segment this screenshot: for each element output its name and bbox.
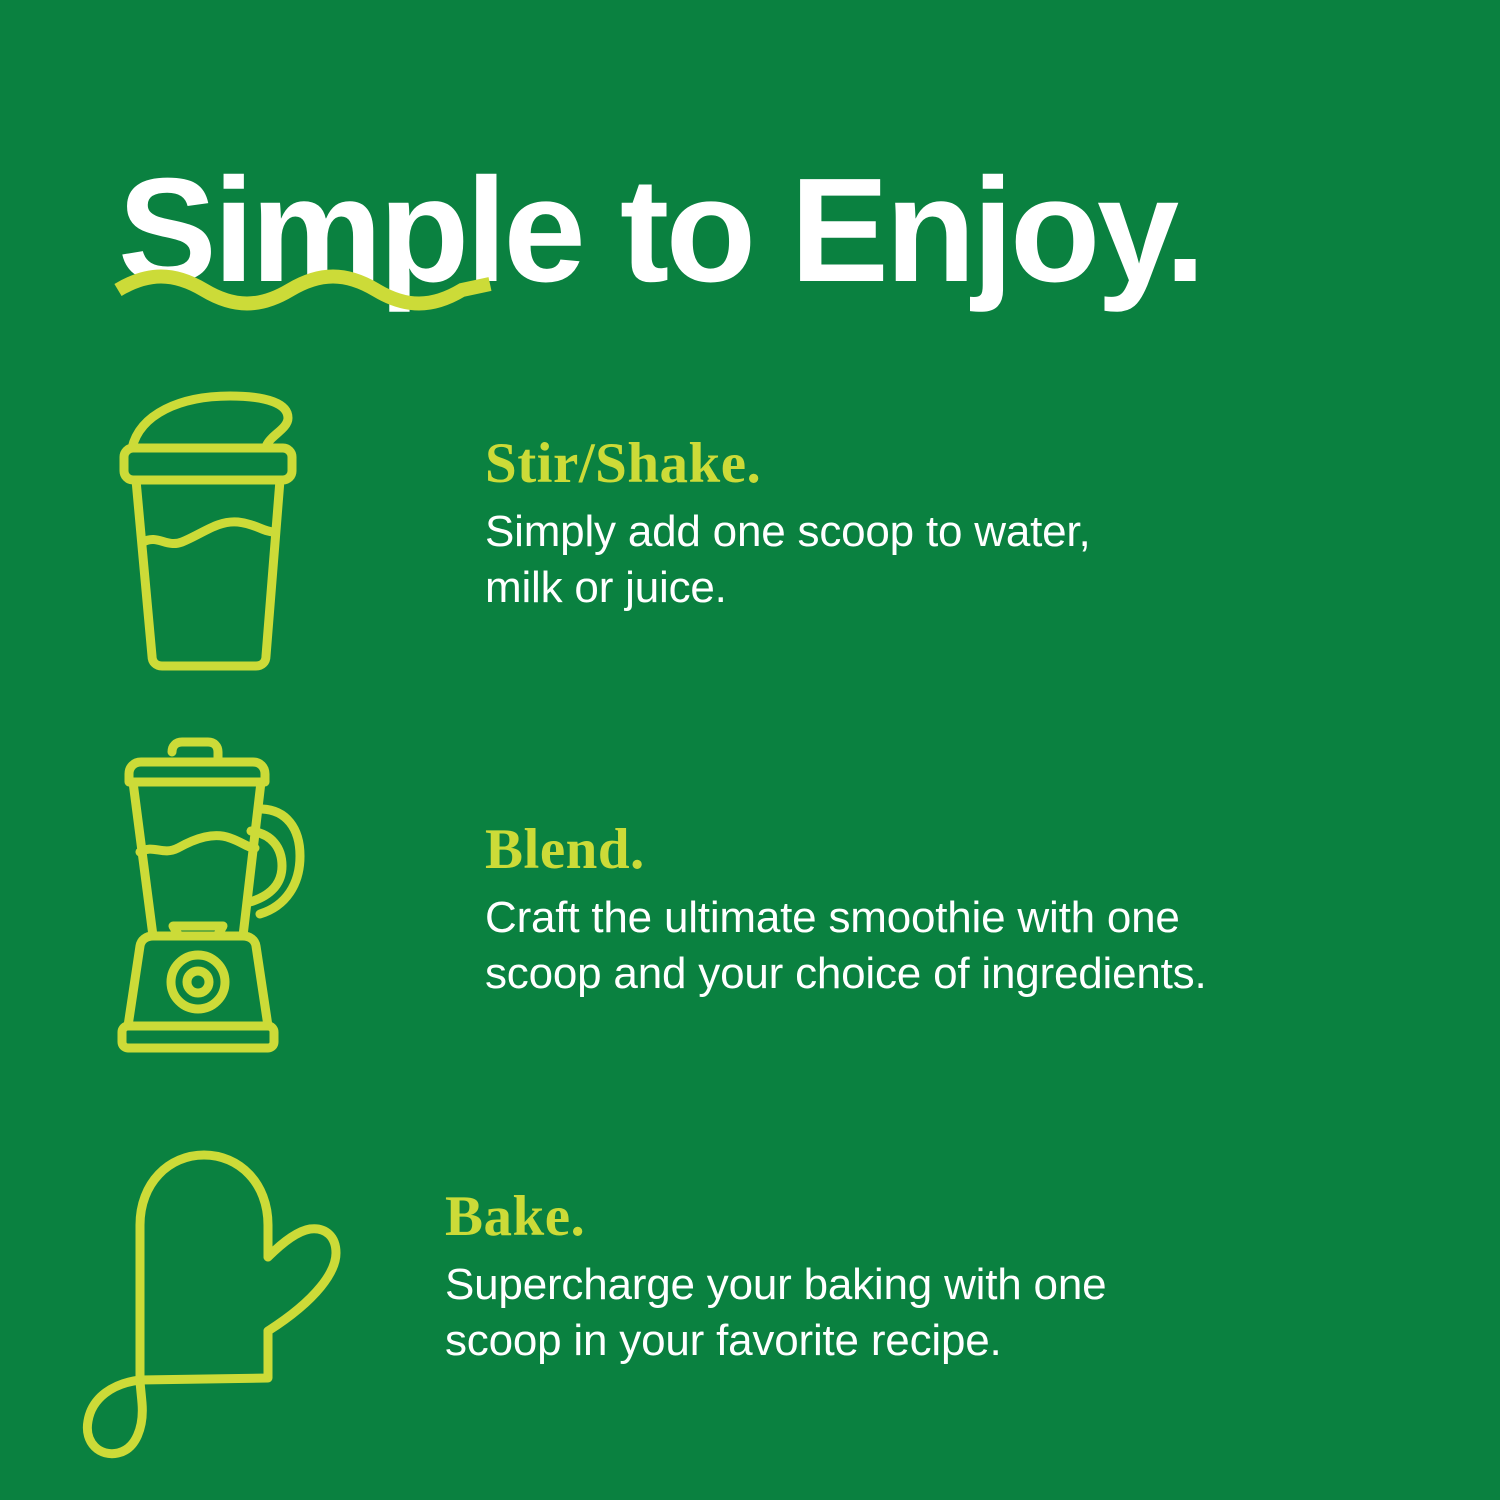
wavy-line-divider <box>112 262 512 332</box>
step-desc-line: Craft the ultimate smoothie with one <box>485 890 1460 946</box>
oven-mitt-icon <box>60 1125 445 1465</box>
step-title-stir-shake: Stir/Shake. <box>485 434 1460 494</box>
step-text-bake: Bake. Supercharge your baking with one s… <box>445 1125 1460 1369</box>
step-title-blend: Blend. <box>485 820 1460 880</box>
step-text-blend: Blend. Craft the ultimate smoothie with … <box>485 728 1460 1002</box>
step-desc-bake: Supercharge your baking with one scoop i… <box>445 1257 1460 1369</box>
step-title-bake: Bake. <box>445 1187 1460 1247</box>
step-text-stir-shake: Stir/Shake. Simply add one scoop to wate… <box>485 378 1460 616</box>
shaker-cup-icon <box>60 378 485 672</box>
step-desc-stir-shake: Simply add one scoop to water, milk or j… <box>485 504 1460 616</box>
poster-root: Simple to Enjoy. <box>0 0 1500 1500</box>
step-row-bake: Bake. Supercharge your baking with one s… <box>60 1125 1460 1465</box>
step-desc-line: Supercharge your baking with one <box>445 1257 1460 1313</box>
step-desc-line: scoop in your favorite recipe. <box>445 1313 1460 1369</box>
step-desc-line: milk or juice. <box>485 560 1460 616</box>
blender-icon <box>60 728 485 1064</box>
step-desc-line: Simply add one scoop to water, <box>485 504 1460 560</box>
step-desc-line: scoop and your choice of ingredients. <box>485 946 1460 1002</box>
step-row-blend: Blend. Craft the ultimate smoothie with … <box>60 728 1460 1064</box>
step-row-stir-shake: Stir/Shake. Simply add one scoop to wate… <box>60 378 1460 672</box>
step-desc-blend: Craft the ultimate smoothie with one sco… <box>485 890 1460 1002</box>
